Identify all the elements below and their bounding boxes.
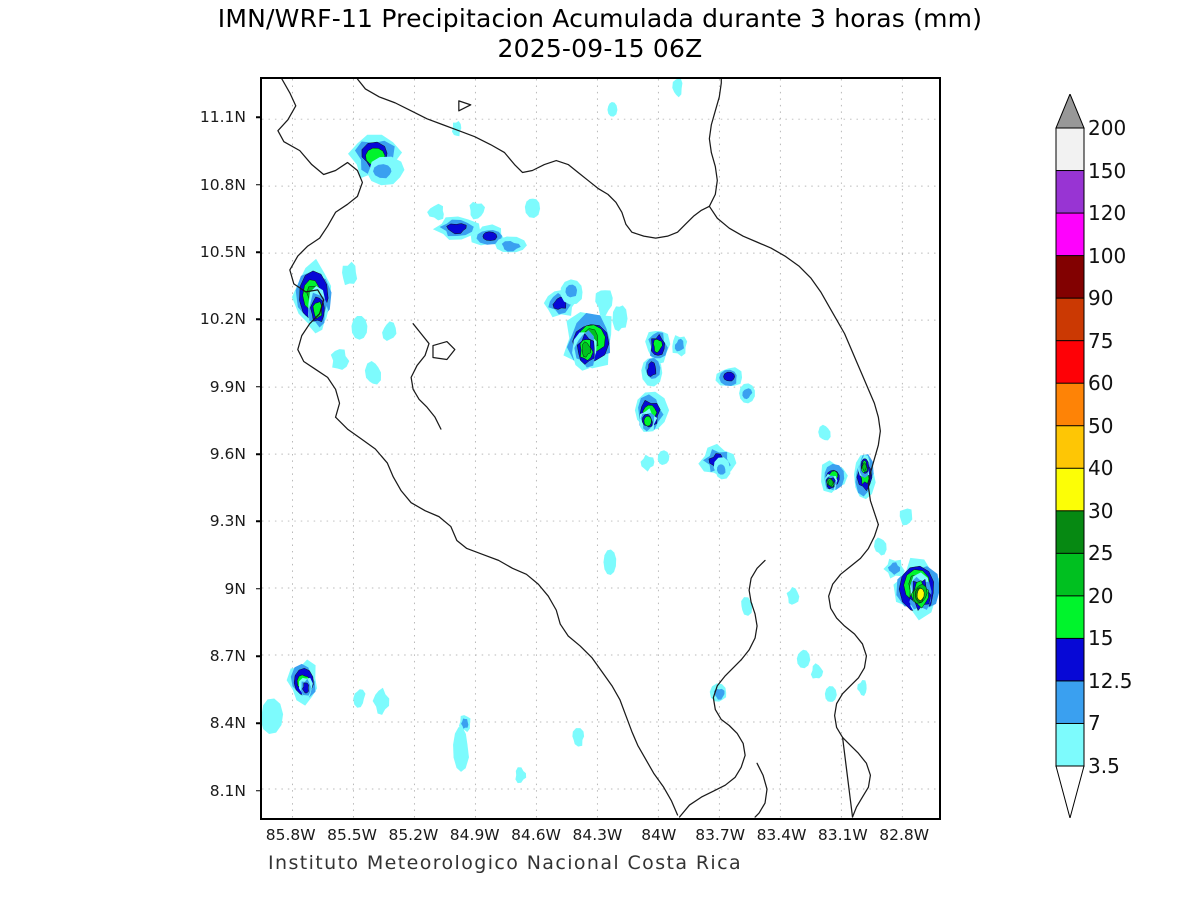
colorbar-tick-label: 60: [1088, 371, 1113, 395]
colorbar-tick-label: 15: [1088, 626, 1113, 650]
precip-cell: [787, 587, 800, 605]
x-axis-tick-label: 83.7W: [695, 826, 745, 844]
precip-contour-band: [365, 361, 381, 385]
y-axis-tick-label: 10.2N: [186, 310, 246, 328]
precip-cell: [453, 727, 469, 772]
colorbar-under-arrow: [1056, 766, 1084, 818]
colorbar-tick-label: 25: [1088, 541, 1113, 565]
precip-contour-band: [331, 349, 349, 370]
precip-cell: [365, 361, 381, 385]
precip-cell: [353, 689, 365, 707]
precip-contour-band: [828, 480, 833, 486]
x-axis-tick-label: 83.1W: [818, 826, 868, 844]
precip-contour-band: [342, 262, 357, 285]
y-axis: 11.1N10.8N10.5N10.2N9.9N9.6N9.3N9N8.7N8.…: [190, 0, 260, 900]
colorbar-band[interactable]: [1056, 681, 1084, 724]
precip-cell: [641, 455, 655, 472]
precip-contour-band: [811, 663, 823, 678]
colorbar-band[interactable]: [1056, 426, 1084, 469]
x-axis-tick-label: 84.9W: [450, 826, 500, 844]
x-axis-tick-label: 85.2W: [388, 826, 438, 844]
colorbar-tick-label: 90: [1088, 286, 1113, 310]
y-axis-tick-label: 9.9N: [186, 378, 246, 396]
colorbar[interactable]: 20015012010090756050403025201512.573.5: [1054, 94, 1194, 818]
colorbar-band[interactable]: [1056, 171, 1084, 214]
precip-cell: [262, 698, 283, 734]
map-plot-area[interactable]: [260, 77, 941, 820]
colorbar-band[interactable]: [1056, 638, 1084, 681]
x-axis-tick-label: 84.3W: [573, 826, 623, 844]
precip-contour-band: [874, 538, 887, 556]
precip-contour-band: [603, 549, 616, 575]
precip-cell: [797, 650, 810, 668]
precip-cell: [373, 688, 390, 715]
x-axis-tick-label: 84.6W: [511, 826, 561, 844]
chart-title-line-2: 2025-09-15 06Z: [0, 34, 1200, 64]
precip-contour-band: [787, 587, 800, 605]
colorbar-tick-label: 7: [1088, 711, 1101, 735]
colorbar-over-arrow: [1056, 94, 1084, 128]
precip-contour-band: [572, 728, 584, 746]
precip-cell: [525, 199, 540, 218]
x-axis-tick-label: 84W: [641, 826, 676, 844]
precip-cell: [351, 316, 367, 340]
colorbar-tick-label: 3.5: [1088, 754, 1120, 778]
precip-cell: [368, 157, 405, 186]
coastline-borders: [278, 79, 880, 817]
x-axis-tick-label: 85.5W: [327, 826, 377, 844]
precip-contour-band: [351, 316, 367, 340]
precip-cell: [331, 349, 349, 370]
precip-cell: [612, 305, 627, 331]
precip-cell: [883, 559, 904, 579]
precip-contour-band: [818, 425, 830, 441]
precip-contour-band: [453, 727, 469, 772]
colorbar-band[interactable]: [1056, 213, 1084, 256]
precip-contour-band: [262, 698, 283, 734]
precip-cell: [672, 335, 687, 356]
y-axis-tick-label: 10.8N: [186, 176, 246, 194]
precip-cell: [515, 767, 526, 783]
colorbar-band[interactable]: [1056, 341, 1084, 384]
y-axis-tick-label: 9.3N: [186, 512, 246, 530]
precip-cell: [658, 450, 670, 465]
colorbar-band[interactable]: [1056, 596, 1084, 639]
colorbar-tick-label: 30: [1088, 499, 1113, 523]
x-axis-tick-label: 83.4W: [757, 826, 807, 844]
precipitation-contours: [262, 79, 939, 783]
colorbar-tick-label: 75: [1088, 329, 1113, 353]
precip-cell: [469, 202, 485, 220]
colorbar-band[interactable]: [1056, 511, 1084, 554]
y-axis-tick-label: 8.1N: [186, 782, 246, 800]
precip-cell: [603, 549, 616, 575]
x-axis-tick-label: 85.8W: [266, 826, 316, 844]
precip-contour-band: [515, 767, 526, 783]
chart-title-block: IMN/WRF-11 Precipitacion Acumulada duran…: [0, 4, 1200, 64]
precip-contour-band: [797, 650, 810, 668]
x-axis-tick-label: 82.8W: [879, 826, 929, 844]
precip-cell: [818, 425, 830, 441]
precip-contour-band: [723, 372, 734, 381]
colorbar-band[interactable]: [1056, 298, 1084, 341]
precip-contour-band: [825, 686, 837, 702]
precip-contour-band: [373, 688, 390, 715]
precip-contour-band: [900, 508, 913, 525]
precip-contour-band: [525, 199, 540, 218]
precip-cell: [857, 680, 866, 696]
footer-attribution: Instituto Meteorologico Nacional Costa R…: [0, 852, 1010, 874]
y-axis-tick-label: 8.7N: [186, 647, 246, 665]
precip-cell: [825, 686, 837, 702]
precip-cell: [874, 538, 887, 556]
precip-cell: [672, 79, 682, 97]
precip-contour-band: [469, 202, 485, 220]
colorbar-tick-label: 50: [1088, 414, 1113, 438]
y-axis-tick-label: 9N: [186, 580, 246, 598]
colorbar-band[interactable]: [1056, 383, 1084, 426]
precip-contour-band: [672, 79, 682, 97]
precip-contour-band: [607, 102, 617, 117]
precip-cell: [382, 321, 396, 341]
y-axis-tick-label: 11.1N: [186, 108, 246, 126]
precip-cell: [561, 279, 583, 304]
precip-contour-band: [612, 305, 627, 331]
colorbar-tick-label: 120: [1088, 201, 1126, 225]
colorbar-band[interactable]: [1056, 553, 1084, 596]
colorbar-tick-label: 200: [1088, 116, 1126, 140]
precip-cell: [811, 663, 823, 678]
precip-cell: [427, 204, 444, 221]
precip-cell: [607, 102, 617, 117]
colorbar-tick-label: 100: [1088, 244, 1126, 268]
precip-contour-band: [353, 689, 365, 707]
precip-cell: [710, 683, 726, 701]
colorbar-tick-label: 150: [1088, 159, 1126, 183]
colorbar-band[interactable]: [1056, 468, 1084, 511]
colorbar-tick-label: 12.5: [1088, 669, 1133, 693]
colorbar-band[interactable]: [1056, 256, 1084, 299]
precipitation-map: [262, 79, 939, 818]
colorbar-band[interactable]: [1056, 128, 1084, 171]
y-axis-tick-label: 9.6N: [186, 445, 246, 463]
precip-cell: [572, 728, 584, 746]
colorbar-tick-label: 40: [1088, 456, 1113, 480]
precip-cell: [739, 383, 755, 403]
colorbar-band[interactable]: [1056, 723, 1084, 766]
precip-contour-band: [427, 204, 444, 221]
precip-cell: [641, 358, 662, 387]
precip-cell: [459, 715, 470, 732]
y-axis-tick-label: 8.4N: [186, 714, 246, 732]
chart-title-line-1: IMN/WRF-11 Precipitacion Acumulada duran…: [0, 4, 1200, 34]
precip-cell: [900, 508, 913, 525]
precip-contour-band: [658, 450, 670, 465]
weather-map-page: IMN/WRF-11 Precipitacion Acumulada duran…: [0, 0, 1200, 900]
y-axis-tick-label: 10.5N: [186, 243, 246, 261]
precip-contour-band: [857, 680, 866, 696]
precip-contour-band: [382, 321, 396, 341]
precip-cell: [342, 262, 357, 285]
colorbar-tick-label: 20: [1088, 584, 1113, 608]
precip-contour-band: [644, 416, 651, 426]
precip-contour-band: [641, 455, 655, 472]
